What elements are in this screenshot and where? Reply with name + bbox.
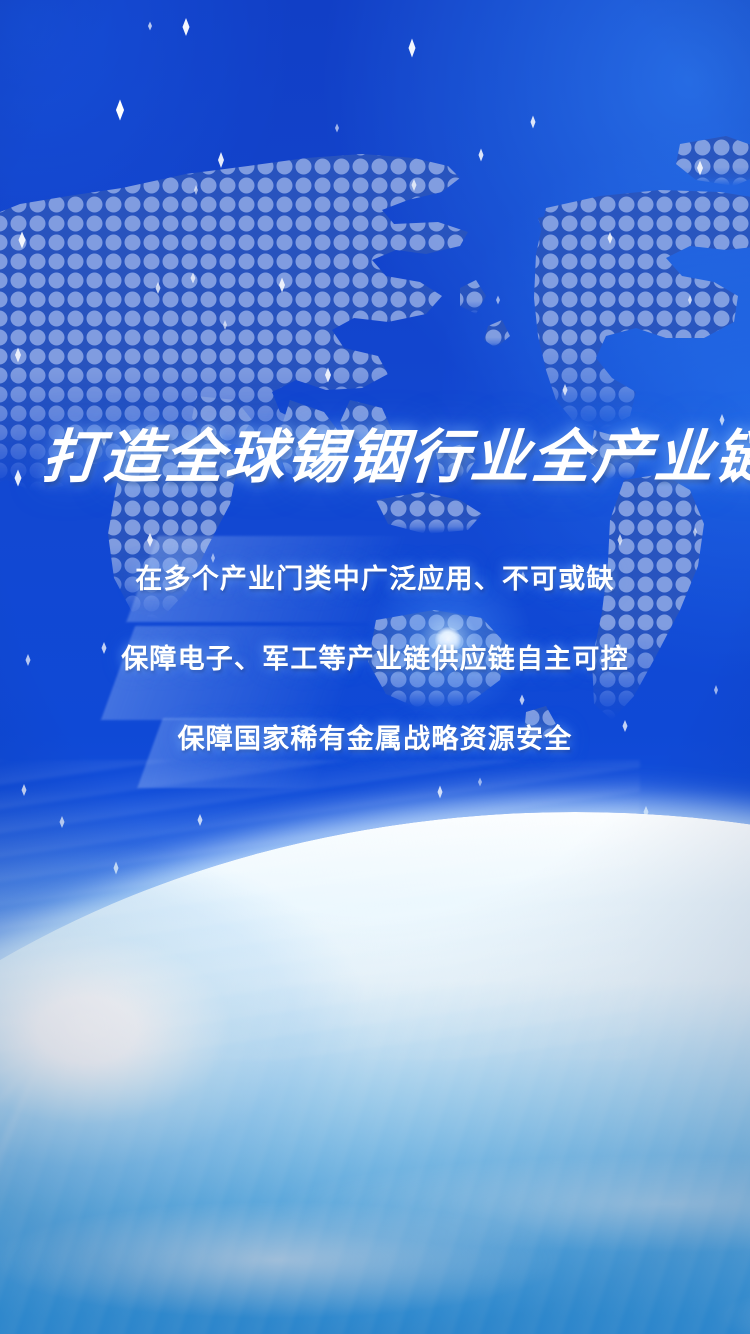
earth-cloud-layer [0,812,750,1334]
earth-horizon [0,812,750,1334]
poster-title: 打造全球锡铟行业全产业链链主 [40,424,726,490]
poster-root: 打造全球锡铟行业全产业链链主 在多个产业门类中广泛应用、不可或缺 保障电子、军工… [0,0,750,1334]
subtitle-line-2: 保障电子、军工等产业链供应链自主可控 [0,642,750,676]
subtitle-line-1: 在多个产业门类中广泛应用、不可或缺 [0,562,750,596]
subtitle-line-3: 保障国家稀有金属战略资源安全 [0,722,750,756]
